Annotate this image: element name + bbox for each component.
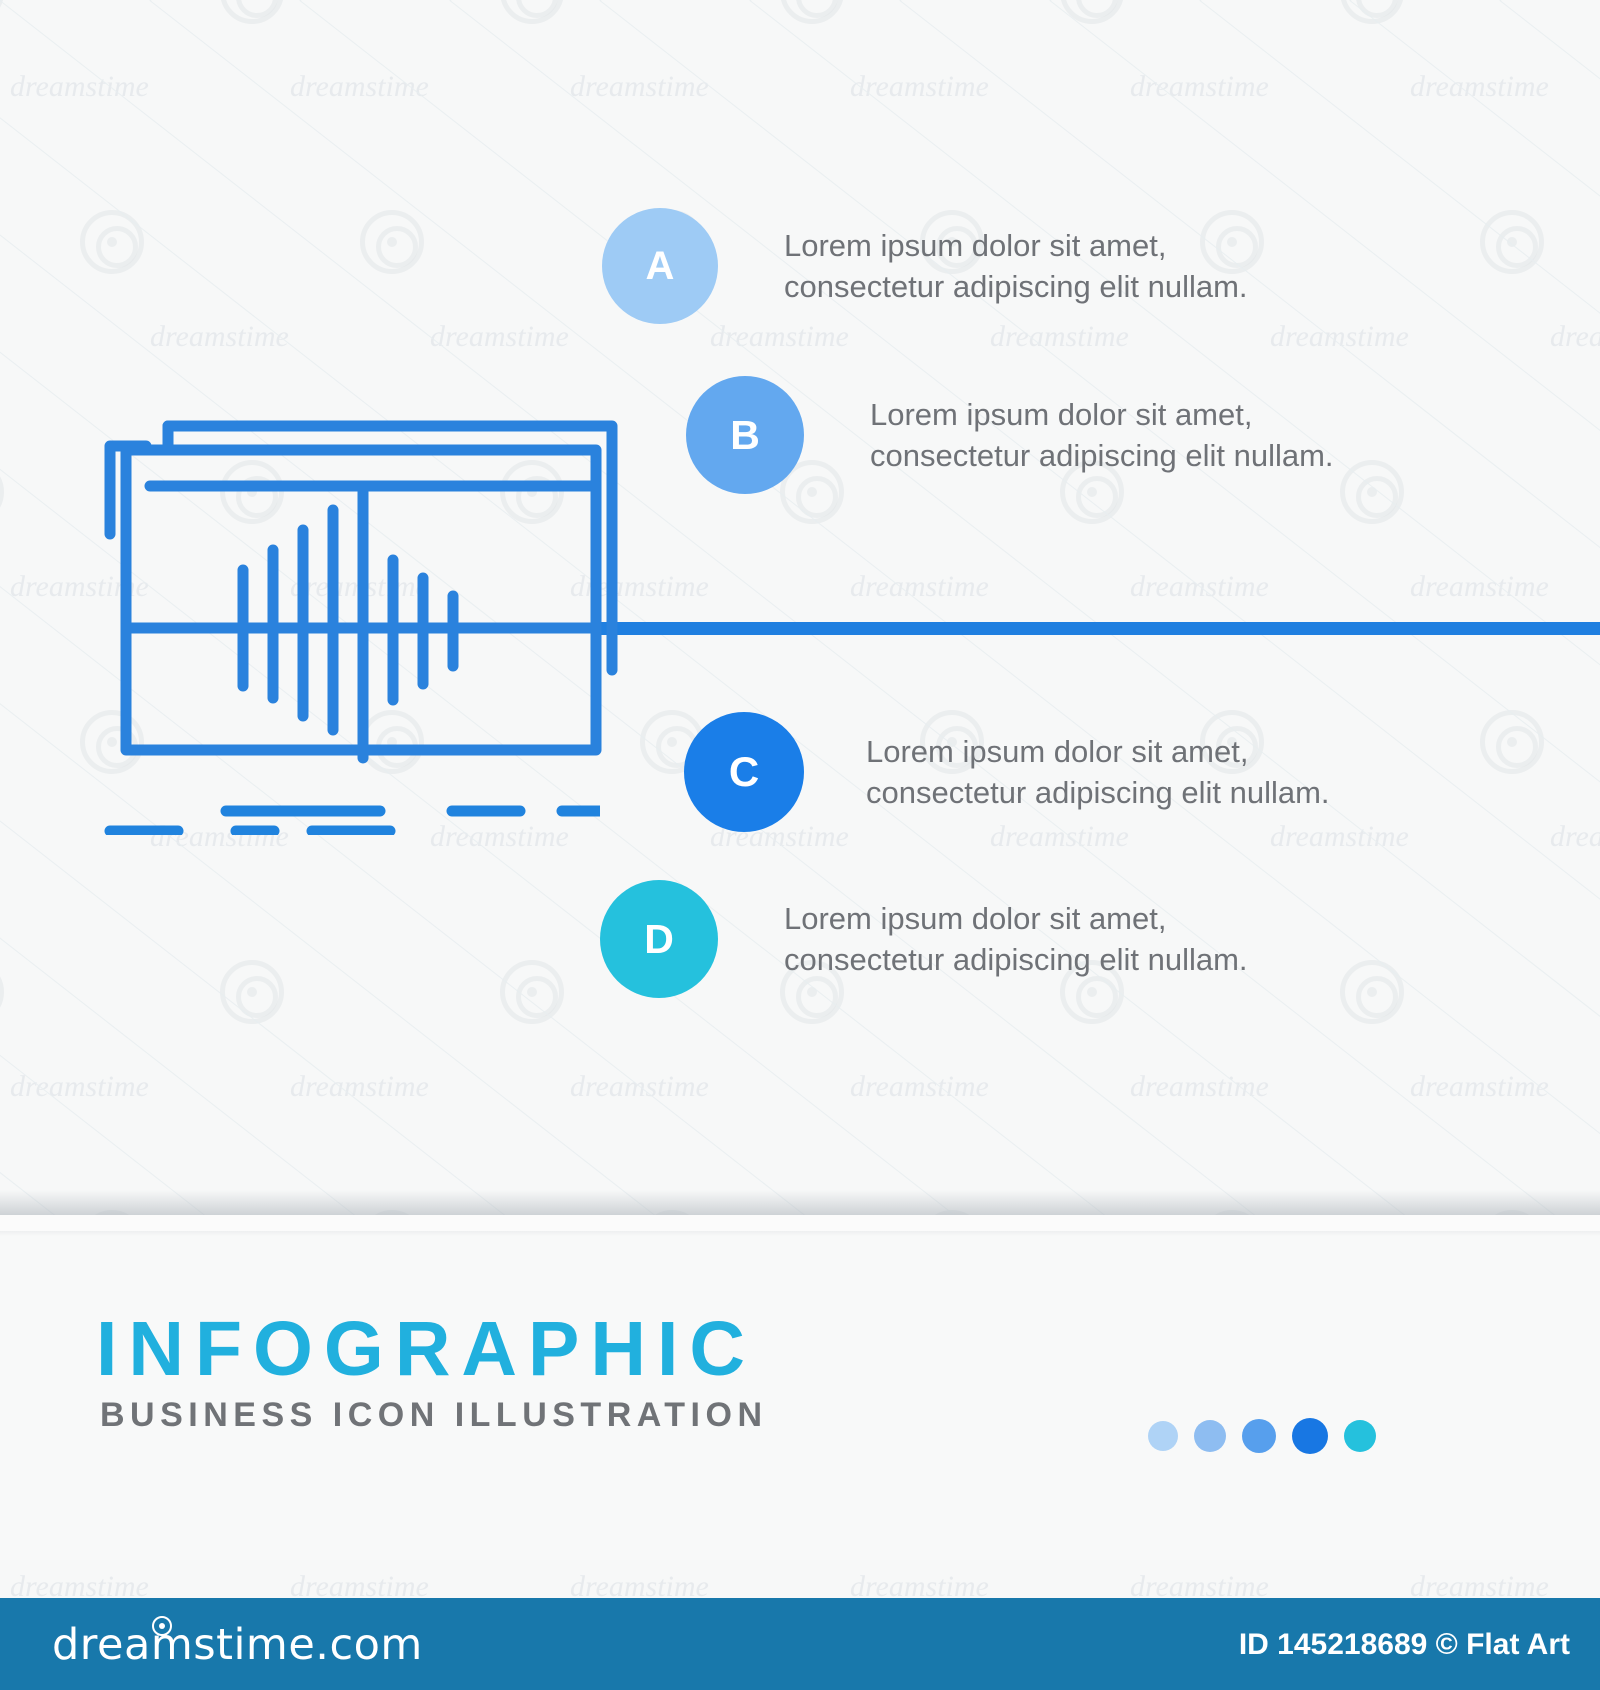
bullet-text-a: Lorem ipsum dolor sit amet, consectetur … [784,225,1248,307]
bullet-row-b[interactable]: B Lorem ipsum dolor sit amet, consectetu… [686,376,1334,494]
icon-decorative-dashes [100,795,600,835]
palette-dot-5 [1344,1420,1376,1452]
color-palette-dots [1148,1418,1376,1454]
badge-c-letter: C [729,748,759,796]
badge-d[interactable]: D [600,880,718,998]
badge-a[interactable]: A [602,208,718,324]
palette-dot-3 [1242,1419,1276,1453]
bullet-text-c: Lorem ipsum dolor sit amet, consectetur … [866,731,1330,813]
bullet-row-c[interactable]: C Lorem ipsum dolor sit amet, consectetu… [684,712,1330,832]
brand-subtitle: BUSINESS ICON ILLUSTRATION [100,1396,768,1435]
upper-panel: A Lorem ipsum dolor sit amet, consectetu… [0,0,1600,1215]
dreamstime-logo[interactable]: dreamstime.com [52,1620,423,1670]
connector-line [600,622,1600,635]
panel-divider-cap [0,1215,1600,1231]
bullet-row-a[interactable]: A Lorem ipsum dolor sit amet, consectetu… [602,208,1248,324]
palette-dot-2 [1194,1420,1226,1452]
bullet-text-b: Lorem ipsum dolor sit amet, consectetur … [870,394,1334,476]
badge-b[interactable]: B [686,376,804,494]
palette-dot-1 [1148,1421,1178,1451]
badge-b-letter: B [730,412,760,459]
infographic-canvas: dreamstimedreamstimedreamstimedreamstime… [0,0,1600,1690]
badge-a-letter: A [646,244,675,289]
dreamstime-spiral-icon [152,1616,172,1636]
bullet-text-d: Lorem ipsum dolor sit amet, consectetur … [784,898,1248,980]
brand-title: INFOGRAPHIC [96,1305,756,1394]
bullet-row-d[interactable]: D Lorem ipsum dolor sit amet, consectetu… [600,880,1248,998]
palette-dot-4 [1292,1418,1328,1454]
badge-c[interactable]: C [684,712,804,832]
badge-d-letter: D [644,916,674,963]
audio-waveform-window-icon [100,390,620,820]
image-id-credit: ID 145218689 © Flat Art [1239,1628,1570,1662]
